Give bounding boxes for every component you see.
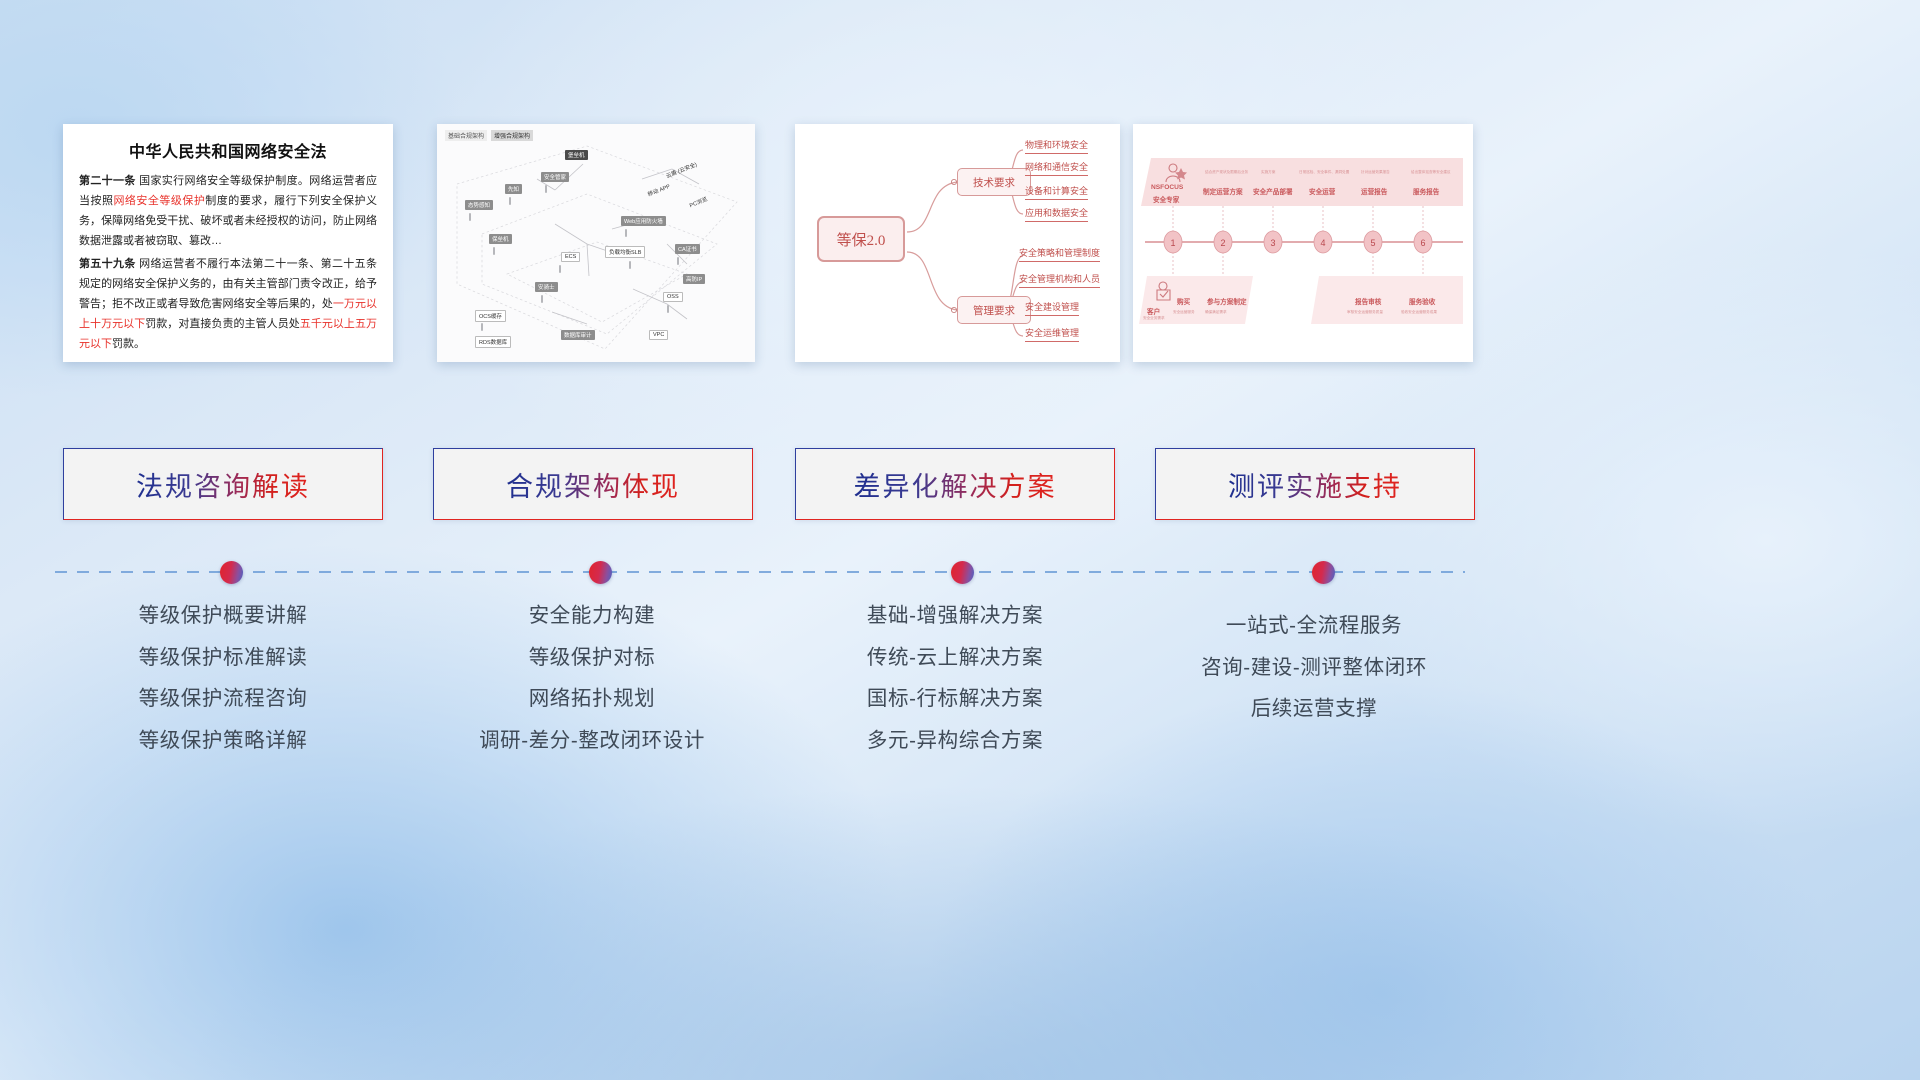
timeline-step-sub: 实施方案 xyxy=(1261,170,1275,175)
timeline-strip xyxy=(55,561,1465,583)
list-item: 安全能力构建 xyxy=(412,606,772,627)
article-59-part2: 罚款，对直接负责的主管人员处 xyxy=(145,318,300,330)
law-text-block: 中华人民共和国网络安全法 第二十一条 国家实行网络安全等级保护制度。网络运营者应… xyxy=(63,124,393,354)
article-21-label: 第二十一条 xyxy=(79,175,136,187)
architecture-diagram: 基础合规架构 增强合规架构 xyxy=(437,124,755,362)
list-item: 多元-异构综合方案 xyxy=(775,731,1135,752)
timeline-step-sub: 针对运营效果报告 xyxy=(1361,170,1390,175)
list-item: 等级保护策略详解 xyxy=(43,731,403,752)
timeline-step-sub: 确保满足需求 xyxy=(1205,310,1227,315)
service-timeline-diagram: 123 456 NSFOCUS 安全专家 结合资产现状及限期后业务 制定运营方案… xyxy=(1133,124,1473,362)
mindmap-leaf: 安全运维管理 xyxy=(1025,326,1079,342)
headline-label-3: 差异化解决方案 xyxy=(854,465,1057,504)
node-label-security-butler: 安全管家 xyxy=(541,172,569,182)
timeline-dot-3[interactable] xyxy=(951,561,974,584)
mindmap-branch-management: 管理要求 xyxy=(957,296,1031,324)
server-icon xyxy=(469,213,471,221)
timeline-dot-1[interactable] xyxy=(220,561,243,584)
mindmap-leaf: 网络和通信安全 xyxy=(1025,160,1088,176)
mindmap-branch-technical: 技术要求 xyxy=(957,168,1031,196)
list-item: 后续运营支撑 xyxy=(1134,699,1494,720)
server-icon xyxy=(541,295,543,303)
timeline-step-sub: 结合资产现状及限期后业务 xyxy=(1205,170,1248,175)
detail-list-4: 一站式-全流程服务 咨询-建设-测评整体闭环 后续运营支撑 xyxy=(1134,606,1494,741)
node-label-anqishi: 安骑士 xyxy=(535,282,558,292)
card-row: 中华人民共和国网络安全法 第二十一条 国家实行网络安全等级保护制度。网络运营者应… xyxy=(0,124,1920,366)
timeline-step-sub: 安全运营服务 xyxy=(1173,310,1195,315)
list-item: 咨询-建设-测评整体闭环 xyxy=(1134,658,1494,679)
article-59-label: 第五十九条 xyxy=(79,258,136,270)
svg-text:6: 6 xyxy=(1420,238,1425,248)
mindmap-leaf: 应用和数据安全 xyxy=(1025,206,1088,222)
server-icon xyxy=(667,305,669,313)
node-label-waf: Web应用防火墙 xyxy=(621,216,666,226)
list-item: 等级保护流程咨询 xyxy=(43,689,403,710)
list-item: 等级保护对标 xyxy=(412,648,772,669)
architecture-connectors xyxy=(437,124,755,362)
list-item: 基础-增强解决方案 xyxy=(775,606,1135,627)
node-label-ca-cert: CA证书 xyxy=(675,244,700,254)
node-label-vpc: VPC xyxy=(649,330,668,340)
list-item: 传统-云上解决方案 xyxy=(775,648,1135,669)
detail-list-3: 基础-增强解决方案 传统-云上解决方案 国标-行标解决方案 多元-异构综合方案 xyxy=(775,606,1135,772)
mindmap-diagram: 等保2.0 技术要求 管理要求 物理和环境安全 网络和通信安全 设备和计算安全 … xyxy=(795,124,1120,362)
node-label-slb: 负载均衡SLB xyxy=(605,246,645,258)
detail-list-2: 安全能力构建 等级保护对标 网络拓扑规划 调研-差分-整改闭环设计 xyxy=(412,606,772,772)
timeline-step-sub: 审核安全运营服务质量 xyxy=(1347,310,1383,315)
card-nsfocus-timeline[interactable]: 123 456 NSFOCUS 安全专家 结合资产现状及限期后业务 制定运营方案… xyxy=(1133,124,1473,362)
timeline-step-title: 购买 xyxy=(1177,296,1190,306)
node-label-anti-ddos: 高防IP xyxy=(683,274,705,284)
list-item: 调研-差分-整改闭环设计 xyxy=(412,731,772,752)
timeline-step-title: 参与方案制定 xyxy=(1207,296,1247,306)
law-title: 中华人民共和国网络安全法 xyxy=(79,138,377,162)
node-label-ecs: ECS xyxy=(561,252,580,262)
timeline-step-title: 服务报告 xyxy=(1413,186,1439,196)
customer-label: 客户 xyxy=(1147,306,1160,316)
card-compliance-architecture[interactable]: 基础合规架构 增强合规架构 xyxy=(437,124,755,362)
list-item: 等级保护标准解读 xyxy=(43,648,403,669)
list-item: 国标-行标解决方案 xyxy=(775,689,1135,710)
card-dengbao-mindmap[interactable]: 等保2.0 技术要求 管理要求 物理和环境安全 网络和通信安全 设备和计算安全 … xyxy=(795,124,1120,362)
svg-text:2: 2 xyxy=(1220,238,1225,248)
law-article-21: 第二十一条 国家实行网络安全等级保护制度。网络运营者应当按照网络安全等级保护制度… xyxy=(79,171,377,251)
server-icon xyxy=(509,197,511,205)
node-label-db-audit: 数据库审计 xyxy=(561,330,595,340)
node-label-bastion: 堡垒机 xyxy=(565,150,588,160)
node-label-situational-awareness: 态势感知 xyxy=(465,200,493,210)
customer-sub: 安全业务需求 xyxy=(1143,316,1165,321)
nsfocus-brand-sub: 安全专家 xyxy=(1153,194,1179,204)
timeline-step-title: 制定运营方案 xyxy=(1203,186,1243,196)
server-icon xyxy=(677,257,679,265)
page-root: 中华人民共和国网络安全法 第二十一条 国家实行网络安全等级保护制度。网络运营者应… xyxy=(0,0,1920,1080)
list-item: 网络拓扑规划 xyxy=(412,689,772,710)
mindmap-leaf: 安全建设管理 xyxy=(1025,300,1079,316)
node-label-xianzhi: 先知 xyxy=(505,184,522,194)
nsfocus-brand: NSFOCUS xyxy=(1151,184,1183,191)
headline-row: 法规咨询解读 合规架构体现 差异化解决方案 测评实施支持 xyxy=(0,448,1920,520)
timeline-dashed-line xyxy=(55,571,1465,573)
node-label-ocs-cache: OCS缓存 xyxy=(475,310,506,322)
server-icon xyxy=(493,247,495,255)
timeline-step-title: 报告审核 xyxy=(1355,296,1381,306)
headline-label-1: 法规咨询解读 xyxy=(136,465,310,504)
detail-lists-row: 等级保护概要讲解 等级保护标准解读 等级保护流程咨询 等级保护策略详解 安全能力… xyxy=(0,606,1920,806)
server-icon xyxy=(545,185,547,193)
server-icon xyxy=(625,229,627,237)
mindmap-leaf: 设备和计算安全 xyxy=(1025,184,1088,200)
article-21-highlight: 网络安全等级保护 xyxy=(113,195,205,207)
headline-box-2[interactable]: 合规架构体现 xyxy=(433,448,753,520)
timeline-graphics: 123 456 xyxy=(1133,124,1473,362)
card-cybersecurity-law[interactable]: 中华人民共和国网络安全法 第二十一条 国家实行网络安全等级保护制度。网络运营者应… xyxy=(63,124,393,362)
headline-box-1[interactable]: 法规咨询解读 xyxy=(63,448,383,520)
timeline-step-title: 服务验收 xyxy=(1409,296,1435,306)
svg-text:5: 5 xyxy=(1370,238,1375,248)
node-label-oss: OSS xyxy=(663,292,683,302)
timeline-dot-4[interactable] xyxy=(1312,561,1335,584)
timeline-step-title: 运营报告 xyxy=(1361,186,1387,196)
mindmap-root: 等保2.0 xyxy=(817,216,905,262)
svg-text:4: 4 xyxy=(1320,238,1325,248)
timeline-step-sub: 日常巡检、安全事件、漏洞处置 xyxy=(1299,170,1349,175)
svg-text:1: 1 xyxy=(1170,238,1175,248)
mindmap-leaf: 物理和环境安全 xyxy=(1025,138,1088,154)
timeline-step-sub: 验收安全运营服务成果 xyxy=(1401,310,1437,315)
timeline-dot-2[interactable] xyxy=(589,561,612,584)
list-item: 一站式-全流程服务 xyxy=(1134,616,1494,637)
node-label-rds: RDS数据库 xyxy=(475,336,511,348)
svg-text:3: 3 xyxy=(1270,238,1275,248)
timeline-step-title: 安全运营 xyxy=(1309,186,1335,196)
server-icon xyxy=(481,323,483,331)
headline-box-4[interactable]: 测评实施支持 xyxy=(1155,448,1475,520)
article-59-part3: 罚款。 xyxy=(112,338,145,350)
server-icon xyxy=(559,265,561,273)
law-article-59: 第五十九条 网络运营者不履行本法第二十一条、第二十五条规定的网络安全保护义务的，… xyxy=(79,254,377,354)
detail-list-1: 等级保护概要讲解 等级保护标准解读 等级保护流程咨询 等级保护策略详解 xyxy=(43,606,403,772)
mindmap-leaf: 安全管理机构和人员 xyxy=(1019,272,1100,288)
mindmap-leaf: 安全策略和管理制度 xyxy=(1019,246,1100,262)
server-icon xyxy=(629,261,631,269)
headline-label-4: 测评实施支持 xyxy=(1228,465,1402,504)
timeline-step-sub: 给出整体巡查等安全建议 xyxy=(1411,170,1451,175)
node-label-bastion-host: 保垒机 xyxy=(489,234,512,244)
headline-box-3[interactable]: 差异化解决方案 xyxy=(795,448,1115,520)
list-item: 等级保护概要讲解 xyxy=(43,606,403,627)
headline-label-2: 合规架构体现 xyxy=(506,465,680,504)
timeline-step-title: 安全产品部署 xyxy=(1253,186,1293,196)
